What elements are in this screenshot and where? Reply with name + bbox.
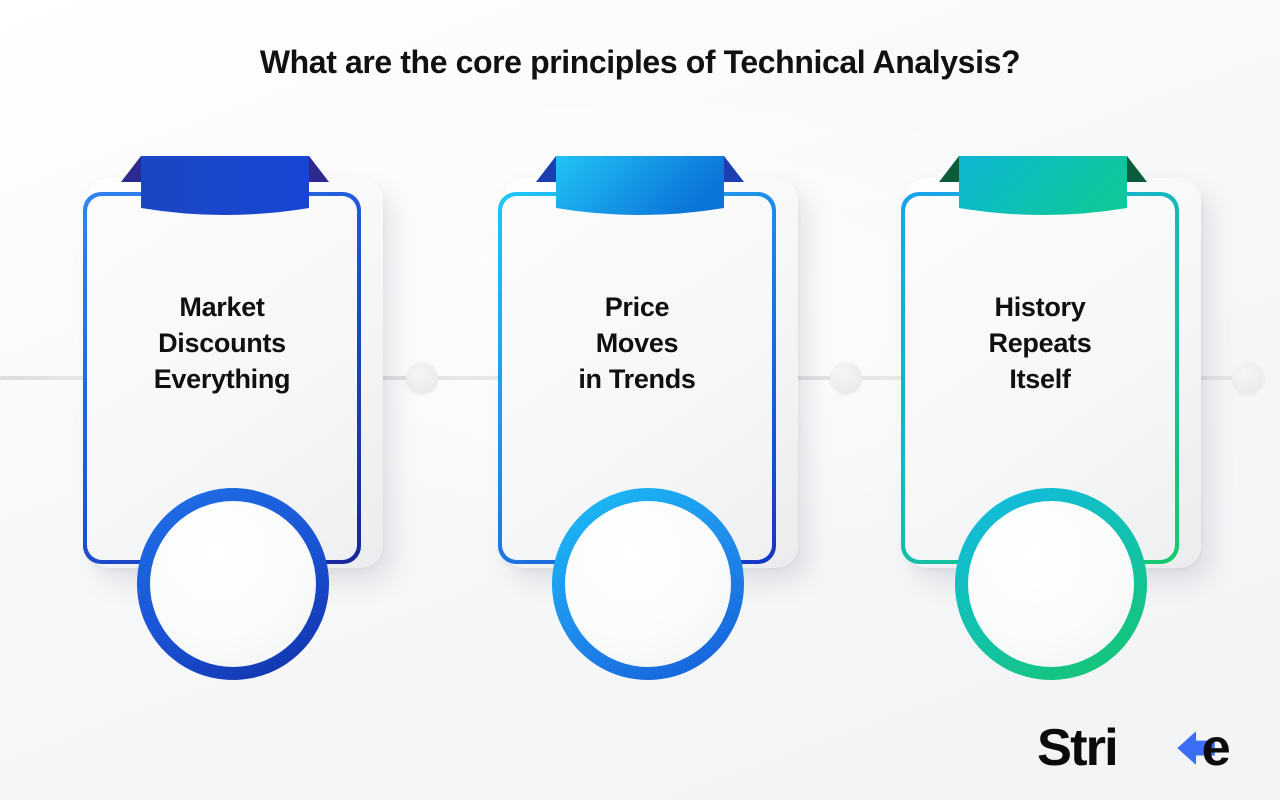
- logo-text-e: e: [1201, 720, 1229, 777]
- card-line: Repeats: [901, 326, 1179, 362]
- card-medallion-2[interactable]: [552, 488, 744, 680]
- card-line: Moves: [498, 326, 776, 362]
- principle-card-2[interactable]: Price Moves in Trends: [490, 150, 810, 690]
- card-line: Everything: [83, 362, 361, 398]
- connector-node-2: [830, 362, 862, 394]
- card-medallion-1[interactable]: [137, 488, 329, 680]
- infographic-canvas: What are the core principles of Technica…: [0, 0, 1280, 800]
- card-heading-1: Market Discounts Everything: [83, 290, 361, 398]
- card-line: in Trends: [498, 362, 776, 398]
- card-line: Market: [83, 290, 361, 326]
- principle-card-3[interactable]: History Repeats Itself: [893, 150, 1213, 690]
- card-line: Price: [498, 290, 776, 326]
- card-ribbon-3: [937, 150, 1149, 220]
- card-medallion-hole-1: [150, 501, 316, 667]
- card-heading-3: History Repeats Itself: [901, 290, 1179, 398]
- card-medallion-hole-2: [565, 501, 731, 667]
- logo-text-stri: Stri: [1037, 720, 1117, 777]
- principle-card-1[interactable]: Market Discounts Everything: [75, 150, 395, 690]
- card-ribbon-1: [119, 150, 331, 220]
- card-line: History: [901, 290, 1179, 326]
- card-line: Itself: [901, 362, 1179, 398]
- card-medallion-3[interactable]: [955, 488, 1147, 680]
- card-line: Discounts: [83, 326, 361, 362]
- strike-logo[interactable]: Stri e: [1037, 720, 1252, 778]
- connector-node-1: [406, 362, 438, 394]
- connector-node-3: [1232, 362, 1264, 394]
- card-ribbon-2: [534, 150, 746, 220]
- card-heading-2: Price Moves in Trends: [498, 290, 776, 398]
- card-medallion-hole-3: [968, 501, 1134, 667]
- page-title: What are the core principles of Technica…: [0, 44, 1280, 81]
